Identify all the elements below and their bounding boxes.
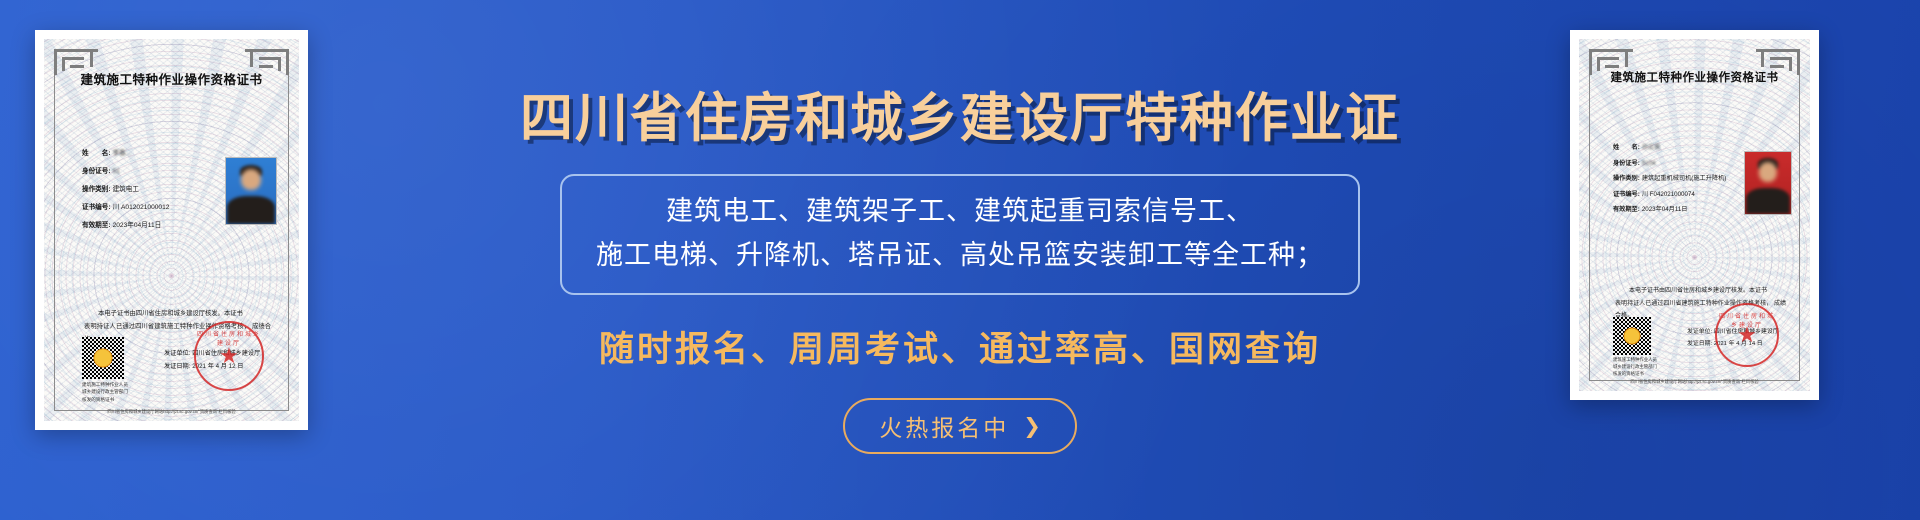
- field-value: 李春...: [113, 151, 132, 158]
- chevron-right-icon: ❯: [1023, 414, 1041, 439]
- issue-date-label: 发证日期:: [1687, 341, 1712, 347]
- note-line-1: 本电子证书由四川省住房和城乡建设厅核发。本证书: [1615, 285, 1786, 298]
- field-label: 姓 名:: [1613, 145, 1640, 152]
- field-label: 证书编号:: [82, 205, 111, 212]
- field-value: 川 F042021000074: [1642, 192, 1695, 199]
- specialties-line-2: 施工电梯、升降机、塔吊证、高处吊篮安装卸工等全工种；: [596, 234, 1324, 278]
- field-value: 51: [113, 169, 144, 176]
- certificate-title: 建筑施工特种作业操作资格证书: [1579, 69, 1810, 85]
- footnote-line-3: 核发的资格证书: [1613, 370, 1657, 377]
- field-row-category: 操作类别: 建筑起重机械司机(施工升降机): [1613, 176, 1726, 183]
- specialties-box: 建筑电工、建筑架子工、建筑起重司索信号工、 施工电梯、升降机、塔吊证、高处吊篮安…: [560, 174, 1360, 295]
- field-row-valid-until: 有效期至: 2023年04月11日: [82, 223, 169, 230]
- certificate-inner-left: 建筑施工特种作业操作资格证书 姓 名: 李春... 身份证号: 51 操作类别:…: [44, 39, 299, 421]
- qr-code: [1613, 317, 1651, 355]
- slogan-text: 随时报名、周周考试、通过率高、国网查询: [599, 321, 1321, 372]
- qr-logo-icon: [1624, 328, 1641, 345]
- footnote-line-2: 城乡建设行政主管部门: [82, 388, 128, 395]
- field-row-cert-no: 证书编号: 川 F042021000074: [1613, 192, 1726, 199]
- field-value: 2023年04月11日: [1642, 207, 1688, 214]
- issuer-label: 发证单位:: [1687, 329, 1712, 335]
- official-seal-icon: 四川省住房和城乡建设厅 ★: [194, 321, 264, 391]
- field-row-id: 身份证号: 51: [82, 169, 169, 176]
- field-label: 操作类别:: [82, 187, 111, 194]
- portrait-photo: [1744, 151, 1792, 215]
- footnote-line-3: 核发的资格证书: [82, 396, 128, 403]
- field-value: 5104: [1642, 161, 1675, 168]
- field-label: 有效期至:: [1613, 207, 1640, 214]
- photo-body: [227, 196, 275, 224]
- footnote-line-2: 城乡建设行政主管部门: [1613, 363, 1657, 370]
- certificate-fields: 姓 名: 孙兰英 身份证号: 5104 操作类别: 建筑起重机械司机(施工升降机…: [1613, 145, 1726, 223]
- enroll-now-button[interactable]: 火热报名中 ❯: [843, 398, 1077, 454]
- field-row-valid-until: 有效期至: 2023年04月11日: [1613, 207, 1726, 214]
- field-row-id: 身份证号: 5104: [1613, 161, 1726, 168]
- field-value: 孙兰英: [1642, 145, 1661, 152]
- issue-date-label: 发证日期:: [164, 363, 190, 370]
- photo-head: [1759, 162, 1777, 182]
- certificate-footnote: 建筑施工特种作业人员 城乡建设行政主管部门 核发的资格证书: [1613, 356, 1657, 377]
- seal-star-icon: ★: [219, 345, 239, 367]
- field-label: 证书编号:: [1613, 192, 1640, 199]
- issuer-label: 发证单位:: [164, 350, 190, 357]
- field-row-cert-no: 证书编号: 川 A012021000012: [82, 205, 169, 212]
- field-value: 建筑电工: [113, 187, 139, 194]
- enroll-now-label: 火热报名中: [879, 409, 1009, 443]
- field-value: 建筑起重机械司机(施工升降机): [1642, 176, 1727, 183]
- specialties-line-1: 建筑电工、建筑架子工、建筑起重司索信号工、: [596, 190, 1324, 234]
- field-value: 2023年04月11日: [113, 223, 162, 230]
- portrait-photo: [225, 157, 277, 225]
- certificate-verify-url: 四川省住房和城乡建设厅网站http://jzt.sc.gov.cn/“资质查询”…: [1579, 379, 1810, 385]
- field-label: 身份证号:: [1613, 161, 1640, 168]
- certificate-footnote: 建筑施工特种作业人员 城乡建设行政主管部门 核发的资格证书: [82, 381, 128, 403]
- certificate-card-right: 建筑施工特种作业操作资格证书 姓 名: 孙兰英 身份证号: 5104 操作类别:…: [1570, 30, 1819, 400]
- certificate-fields: 姓 名: 李春... 身份证号: 51 操作类别: 建筑电工 证书编号: 川 A…: [82, 151, 169, 241]
- certificate-title: 建筑施工特种作业操作资格证书: [44, 69, 299, 88]
- photo-head: [241, 169, 261, 191]
- official-seal-icon: 四川省住房和城乡建设厅 ★: [1715, 303, 1779, 367]
- field-label: 有效期至:: [82, 223, 111, 230]
- seal-star-icon: ★: [1737, 324, 1757, 346]
- field-row-name: 姓 名: 孙兰英: [1613, 145, 1726, 152]
- page-title: 四川省住房和城乡建设厅特种作业证: [520, 76, 1400, 152]
- certificate-card-left: 建筑施工特种作业操作资格证书 姓 名: 李春... 身份证号: 51 操作类别:…: [35, 30, 308, 430]
- footnote-line-1: 建筑施工特种作业人员: [82, 381, 128, 388]
- field-label: 操作类别:: [1613, 176, 1640, 183]
- field-label: 身份证号:: [82, 169, 111, 176]
- note-line-1: 本电子证书由四川省住房和城乡建设厅核发。本证书: [84, 307, 271, 320]
- field-value: 川 A012021000012: [113, 205, 170, 212]
- field-row-name: 姓 名: 李春...: [82, 151, 169, 158]
- promo-banner: 建筑施工特种作业操作资格证书 姓 名: 李春... 身份证号: 51 操作类别:…: [0, 0, 1920, 520]
- field-label: 姓 名:: [82, 151, 111, 158]
- certificate-verify-url: 四川省住房和城乡建设厅网站http://jzt.sc.gov.cn/“资质查询”…: [44, 409, 299, 415]
- banner-content: 四川省住房和城乡建设厅特种作业证 建筑电工、建筑架子工、建筑起重司索信号工、 施…: [330, 0, 1590, 520]
- field-row-category: 操作类别: 建筑电工: [82, 187, 169, 194]
- footnote-line-1: 建筑施工特种作业人员: [1613, 356, 1657, 363]
- qr-logo-icon: [94, 349, 113, 368]
- photo-body: [1746, 188, 1790, 214]
- certificate-inner-right: 建筑施工特种作业操作资格证书 姓 名: 孙兰英 身份证号: 5104 操作类别:…: [1579, 39, 1810, 391]
- qr-code: [82, 337, 124, 379]
